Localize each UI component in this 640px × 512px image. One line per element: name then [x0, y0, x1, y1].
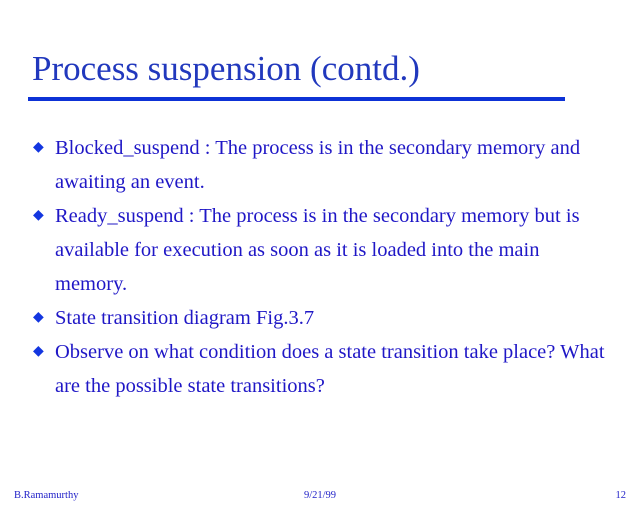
title-underline-rule — [28, 97, 565, 101]
footer-page-number: 12 — [616, 486, 627, 506]
title-block: Process suspension (contd.) — [28, 48, 588, 90]
bullet-list: ◆ Blocked_suspend : The process is in th… — [28, 131, 606, 403]
list-item-text: Blocked_suspend : The process is in the … — [55, 131, 606, 199]
diamond-bullet-icon: ◆ — [33, 131, 49, 165]
slide: Process suspension (contd.) ◆ Blocked_su… — [0, 0, 640, 512]
diamond-bullet-icon: ◆ — [33, 335, 49, 369]
slide-footer: B.Ramamurthy 9/21/99 12 — [0, 486, 640, 506]
list-item-text: State transition diagram Fig.3.7 — [55, 301, 606, 335]
footer-date: 9/21/99 — [0, 486, 640, 506]
page-title: Process suspension (contd.) — [28, 48, 588, 90]
list-item-text: Observe on what condition does a state t… — [55, 335, 606, 403]
list-item-text: Ready_suspend : The process is in the se… — [55, 199, 606, 301]
list-item: ◆ Blocked_suspend : The process is in th… — [28, 131, 606, 199]
diamond-bullet-icon: ◆ — [33, 199, 49, 233]
list-item: ◆ Ready_suspend : The process is in the … — [28, 199, 606, 301]
list-item: ◆ Observe on what condition does a state… — [28, 335, 606, 403]
diamond-bullet-icon: ◆ — [33, 301, 49, 335]
list-item: ◆ State transition diagram Fig.3.7 — [28, 301, 606, 335]
